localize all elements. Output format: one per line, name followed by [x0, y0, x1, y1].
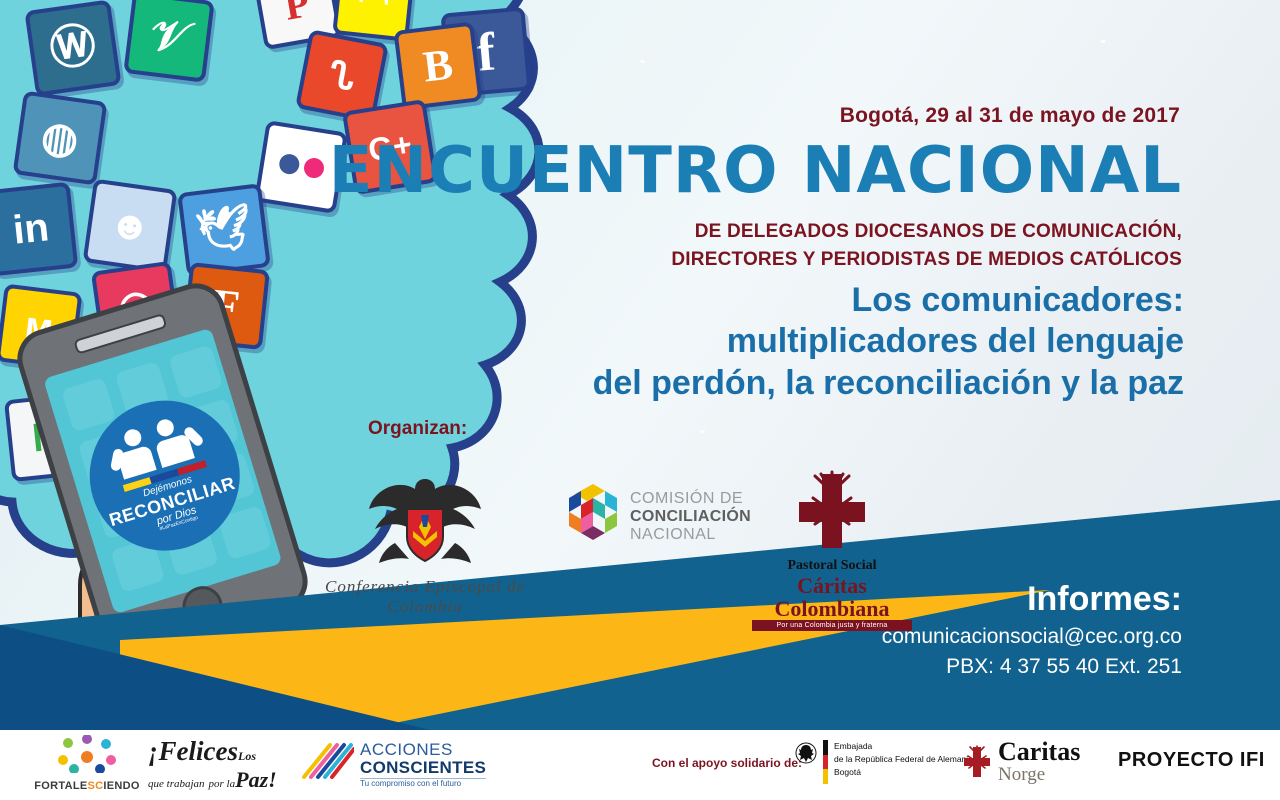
contact-phone: PBX: 4 37 55 40 Ext. 251	[882, 655, 1182, 679]
german-eagle-icon	[795, 740, 817, 766]
event-tagline: Los comunicadores: multiplicadores del l…	[593, 280, 1184, 404]
logo-conferencia-episcopal: Conferencia Episcopal de Colombia	[300, 465, 550, 617]
reddit-icon: ☻	[83, 179, 178, 274]
tagline-line-2: multiplicadores del lenguaje	[593, 321, 1184, 362]
linkedin-icon: in	[0, 182, 78, 277]
event-date: Bogotá, 29 al 31 de mayo de 2017	[840, 104, 1180, 128]
ccn-line-2: CONCILIACIÓN	[630, 508, 751, 526]
acciones-line-2: CONSCIENTES	[360, 759, 486, 777]
caritas-norge-text: Caritas Norge	[998, 739, 1080, 784]
acciones-line-3: Tu compromiso con el futuro	[360, 778, 486, 788]
embassy-line-3: Bogotá	[834, 766, 973, 779]
embassy-line-1: Embajada	[834, 740, 973, 753]
embassy-line-2: de la República Federal de Alemania	[834, 753, 973, 766]
acciones-stripes-icon	[300, 741, 354, 781]
felices-word-5: Paz!	[235, 767, 277, 792]
ccn-line-1: COMISIÓN DE	[630, 490, 751, 508]
acciones-line-1: ACCIONES	[360, 741, 486, 759]
organizers-label: Organizan:	[368, 418, 467, 440]
sparkle	[640, 60, 645, 63]
logo-felices-paz: ¡FelicesLos que trabajan por laPaz!	[148, 736, 288, 786]
sparkle	[1100, 40, 1106, 43]
ccn-text: COMISIÓN DE CONCILIACIÓN NACIONAL	[630, 490, 751, 544]
contact-email[interactable]: comunicacionsocial@cec.org.co	[882, 625, 1182, 649]
subtitle-line-2: DIRECTORES Y PERIODISTAS DE MEDIOS CATÓL…	[671, 246, 1182, 274]
caritas-cross-icon	[789, 470, 875, 552]
wordpress-icon: Ⓦ	[24, 0, 121, 97]
felices-word-4: por la	[209, 778, 236, 790]
tagline-line-3: del perdón, la reconciliación y la paz	[593, 363, 1184, 404]
fortalesciendo-part-1: FORTALE	[34, 780, 87, 792]
fortalesciendo-wordmark: FORTALESCIENDO	[32, 780, 142, 792]
caritas-norge-cross-icon	[960, 745, 994, 779]
caritas-norge-line-1: Caritas	[998, 739, 1080, 765]
caritas-norge-line-2: Norge	[998, 765, 1080, 784]
fortalesciendo-people-icon	[56, 735, 118, 773]
ccn-line-3: NACIONAL	[630, 526, 751, 544]
blogger-icon: B	[393, 21, 482, 110]
cec-name: Conferencia Episcopal de Colombia	[300, 577, 550, 617]
page-title: ENCUENTRO NACIONAL	[329, 134, 1182, 208]
logo-german-embassy: Embajada de la República Federal de Alem…	[795, 740, 973, 784]
ccn-hexagon-icon	[565, 480, 621, 554]
logo-caritas-norge: Caritas Norge	[960, 739, 1080, 784]
logo-fortalesciendo: FORTALESCIENDO	[32, 735, 142, 792]
fortalesciendo-part-2: SC	[88, 780, 104, 792]
caritas-line-1: Pastoral Social	[752, 558, 912, 574]
logo-acciones-conscientes: ACCIONES CONSCIENTES Tu compromiso con e…	[300, 741, 486, 788]
fortalesciendo-part-3: IENDO	[103, 780, 139, 792]
german-flag-bar	[823, 740, 828, 784]
support-label: Con el apoyo solidario de:	[652, 756, 802, 770]
felices-word-1: ¡Felices	[148, 736, 238, 766]
embassy-text: Embajada de la República Federal de Alem…	[834, 740, 973, 778]
tagline-line-1: Los comunicadores:	[593, 280, 1184, 321]
event-subtitle: DE DELEGADOS DIOCESANOS DE COMUNICACIÓN,…	[671, 218, 1182, 273]
poster-canvas: Ⓦ 𝒱 P ◠ f ᔐ B ◍ G+ in ☻ 🕊 ᴍ ◎ F M	[0, 0, 1280, 800]
eagle-crest-icon	[365, 465, 485, 570]
contact-block: Informes: comunicacionsocial@cec.org.co …	[882, 580, 1182, 679]
felices-word-3: que trabajan	[148, 778, 205, 790]
felices-word-2: Los	[238, 749, 256, 763]
logo-comision-conciliacion-nacional: COMISIÓN DE CONCILIACIÓN NACIONAL	[565, 480, 751, 554]
sparkle	[700, 430, 705, 433]
vine-icon: 𝒱	[123, 0, 214, 83]
periscope-icon: ◍	[13, 91, 108, 186]
contact-heading: Informes:	[882, 580, 1182, 619]
logo-proyecto-ifi: PROYECTO IFI	[1118, 749, 1265, 772]
twitter-icon: 🕊	[177, 183, 271, 277]
acciones-text: ACCIONES CONSCIENTES Tu compromiso con e…	[360, 741, 486, 788]
subtitle-line-1: DE DELEGADOS DIOCESANOS DE COMUNICACIÓN,	[671, 218, 1182, 246]
